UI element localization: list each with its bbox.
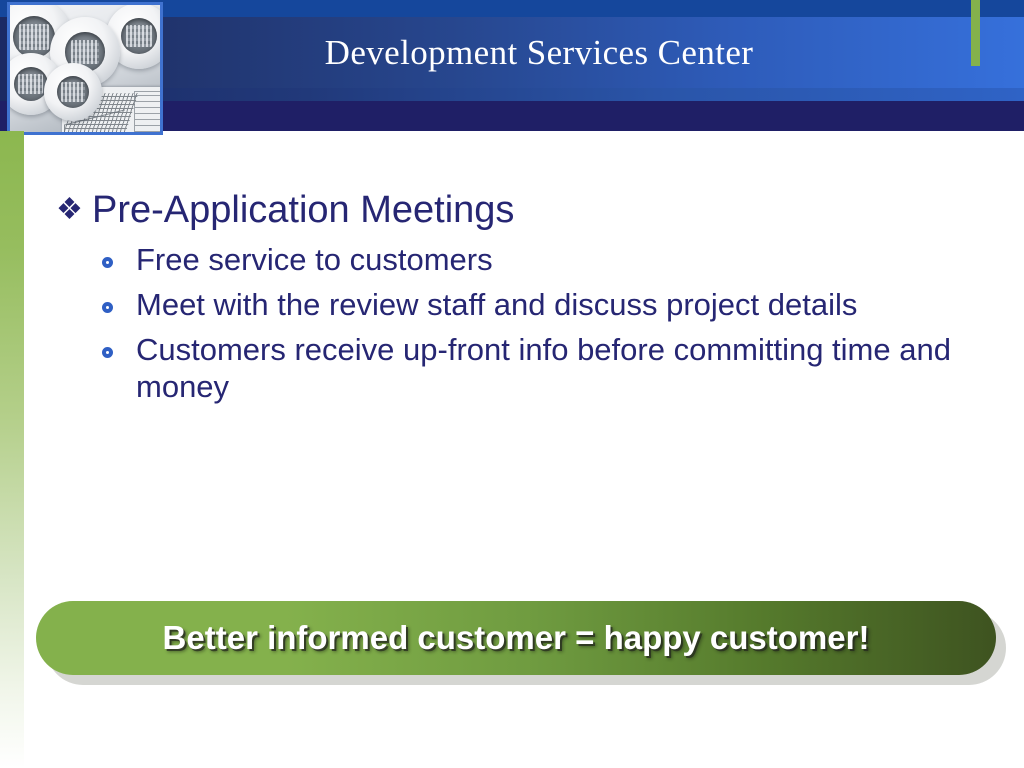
bullet-level2-label: Customers receive up-front info before c… bbox=[136, 331, 966, 407]
bullet-level2: Meet with the review staff and discuss p… bbox=[102, 286, 986, 324]
roll-bore bbox=[121, 18, 158, 55]
roll-bore bbox=[13, 16, 56, 59]
diamond-cluster-bullet-icon: ❖ bbox=[56, 190, 92, 230]
bullet-level2-label: Free service to customers bbox=[136, 241, 966, 279]
ring-bullet-icon bbox=[102, 286, 136, 313]
ring-bullet-icon bbox=[102, 241, 136, 268]
blueprint-roll bbox=[44, 63, 102, 121]
bullet-level2: Customers receive up-front info before c… bbox=[102, 331, 986, 407]
callout-text: Better informed customer = happy custome… bbox=[163, 619, 870, 657]
roll-bore bbox=[57, 76, 89, 108]
green-fade-strip bbox=[0, 131, 24, 768]
callout-pill: Better informed customer = happy custome… bbox=[36, 601, 996, 675]
roll-bore bbox=[14, 67, 49, 102]
slide-body: ❖ Pre-Application Meetings Free service … bbox=[56, 190, 986, 413]
bullet-sublist: Free service to customers Meet with the … bbox=[102, 241, 986, 406]
callout-banner: Better informed customer = happy custome… bbox=[36, 601, 1004, 687]
bullet-level1-label: Pre-Application Meetings bbox=[92, 190, 986, 231]
plan-line-block bbox=[134, 91, 160, 132]
bullet-level1: ❖ Pre-Application Meetings bbox=[56, 190, 986, 231]
bullet-level2-label: Meet with the review staff and discuss p… bbox=[136, 286, 966, 324]
rolled-blueprints-photo bbox=[7, 2, 163, 135]
photo-inner bbox=[10, 5, 160, 132]
ring-bullet-icon bbox=[102, 331, 136, 358]
bullet-level2: Free service to customers bbox=[102, 241, 986, 279]
slide-canvas: Development Services Center ❖ Pre-Applic… bbox=[0, 0, 1024, 768]
